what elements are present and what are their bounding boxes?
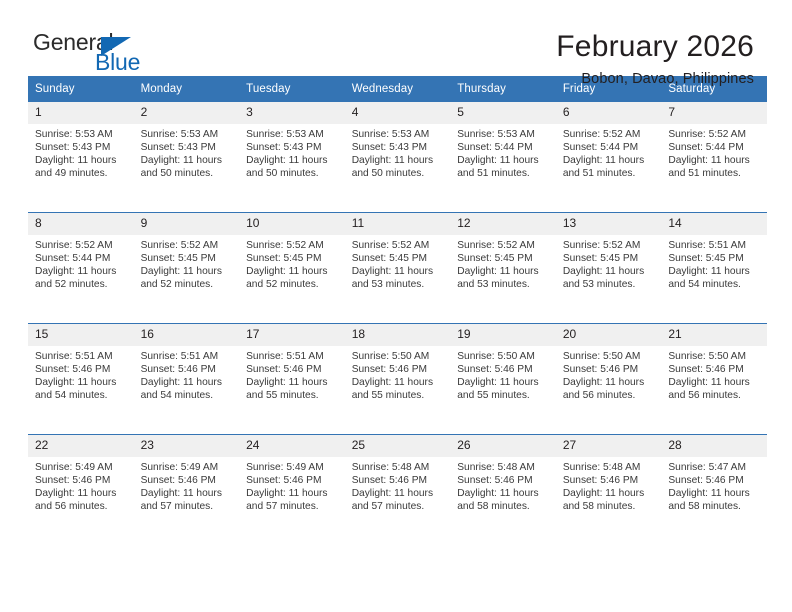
daylight-text: Daylight: 11 hours and 53 minutes. (563, 265, 656, 291)
sunset-text: Sunset: 5:46 PM (35, 474, 128, 487)
daylight-text: Daylight: 11 hours and 50 minutes. (141, 154, 234, 180)
sunrise-text: Sunrise: 5:51 AM (246, 350, 339, 363)
day-details: Sunrise: 5:53 AMSunset: 5:43 PMDaylight:… (345, 124, 451, 180)
sunrise-text: Sunrise: 5:52 AM (35, 239, 128, 252)
sunrise-text: Sunrise: 5:52 AM (246, 239, 339, 252)
day-number: 2 (134, 102, 240, 124)
sunset-text: Sunset: 5:44 PM (35, 252, 128, 265)
day-cell[interactable]: 23Sunrise: 5:49 AMSunset: 5:46 PMDayligh… (134, 435, 240, 546)
sunrise-text: Sunrise: 5:48 AM (563, 461, 656, 474)
sunset-text: Sunset: 5:46 PM (352, 474, 445, 487)
sunrise-text: Sunrise: 5:51 AM (668, 239, 761, 252)
sunrise-text: Sunrise: 5:50 AM (668, 350, 761, 363)
day-number: 26 (450, 435, 556, 457)
day-details: Sunrise: 5:51 AMSunset: 5:46 PMDaylight:… (28, 346, 134, 402)
daylight-text: Daylight: 11 hours and 55 minutes. (246, 376, 339, 402)
day-cell[interactable]: 20Sunrise: 5:50 AMSunset: 5:46 PMDayligh… (556, 324, 662, 435)
day-number: 8 (28, 213, 134, 235)
sunset-text: Sunset: 5:45 PM (457, 252, 550, 265)
calendar-week-row: 15Sunrise: 5:51 AMSunset: 5:46 PMDayligh… (28, 324, 767, 435)
day-number: 7 (661, 102, 767, 124)
day-number: 3 (239, 102, 345, 124)
day-details: Sunrise: 5:50 AMSunset: 5:46 PMDaylight:… (345, 346, 451, 402)
day-cell[interactable]: 24Sunrise: 5:49 AMSunset: 5:46 PMDayligh… (239, 435, 345, 546)
day-cell[interactable]: 5Sunrise: 5:53 AMSunset: 5:44 PMDaylight… (450, 102, 556, 213)
calendar-table: Sunday Monday Tuesday Wednesday Thursday… (28, 76, 767, 545)
day-cell[interactable]: 25Sunrise: 5:48 AMSunset: 5:46 PMDayligh… (345, 435, 451, 546)
day-details: Sunrise: 5:52 AMSunset: 5:45 PMDaylight:… (345, 235, 451, 291)
sunrise-text: Sunrise: 5:51 AM (35, 350, 128, 363)
day-details: Sunrise: 5:50 AMSunset: 5:46 PMDaylight:… (556, 346, 662, 402)
calendar-week-row: 22Sunrise: 5:49 AMSunset: 5:46 PMDayligh… (28, 435, 767, 546)
sunset-text: Sunset: 5:44 PM (563, 141, 656, 154)
page-title: February 2026 (556, 30, 754, 64)
sunrise-text: Sunrise: 5:52 AM (563, 239, 656, 252)
sunset-text: Sunset: 5:43 PM (141, 141, 234, 154)
day-number: 18 (345, 324, 451, 346)
daylight-text: Daylight: 11 hours and 55 minutes. (457, 376, 550, 402)
calendar-page: General Blue February 2026 Bobon, Davao,… (0, 0, 792, 612)
day-details: Sunrise: 5:47 AMSunset: 5:46 PMDaylight:… (661, 457, 767, 513)
day-cell[interactable]: 27Sunrise: 5:48 AMSunset: 5:46 PMDayligh… (556, 435, 662, 546)
day-details: Sunrise: 5:49 AMSunset: 5:46 PMDaylight:… (239, 457, 345, 513)
day-cell[interactable]: 9Sunrise: 5:52 AMSunset: 5:45 PMDaylight… (134, 213, 240, 324)
sunrise-text: Sunrise: 5:52 AM (141, 239, 234, 252)
daylight-text: Daylight: 11 hours and 55 minutes. (352, 376, 445, 402)
sunrise-text: Sunrise: 5:53 AM (457, 128, 550, 141)
day-details: Sunrise: 5:53 AMSunset: 5:43 PMDaylight:… (134, 124, 240, 180)
day-cell[interactable]: 1Sunrise: 5:53 AMSunset: 5:43 PMDaylight… (28, 102, 134, 213)
day-cell[interactable]: 2Sunrise: 5:53 AMSunset: 5:43 PMDaylight… (134, 102, 240, 213)
sunrise-text: Sunrise: 5:49 AM (246, 461, 339, 474)
daylight-text: Daylight: 11 hours and 58 minutes. (668, 487, 761, 513)
weekday-header-thursday: Thursday (450, 76, 556, 102)
day-number: 15 (28, 324, 134, 346)
day-number: 28 (661, 435, 767, 457)
day-cell[interactable]: 19Sunrise: 5:50 AMSunset: 5:46 PMDayligh… (450, 324, 556, 435)
day-cell[interactable]: 7Sunrise: 5:52 AMSunset: 5:44 PMDaylight… (661, 102, 767, 213)
calendar-week-row: 1Sunrise: 5:53 AMSunset: 5:43 PMDaylight… (28, 102, 767, 213)
sunrise-text: Sunrise: 5:50 AM (352, 350, 445, 363)
day-details: Sunrise: 5:51 AMSunset: 5:46 PMDaylight:… (134, 346, 240, 402)
sunset-text: Sunset: 5:46 PM (246, 363, 339, 376)
sunrise-text: Sunrise: 5:48 AM (457, 461, 550, 474)
daylight-text: Daylight: 11 hours and 54 minutes. (668, 265, 761, 291)
day-details: Sunrise: 5:53 AMSunset: 5:44 PMDaylight:… (450, 124, 556, 180)
sunset-text: Sunset: 5:45 PM (668, 252, 761, 265)
day-cell[interactable]: 8Sunrise: 5:52 AMSunset: 5:44 PMDaylight… (28, 213, 134, 324)
day-number: 5 (450, 102, 556, 124)
sunset-text: Sunset: 5:46 PM (141, 474, 234, 487)
day-details: Sunrise: 5:53 AMSunset: 5:43 PMDaylight:… (239, 124, 345, 180)
day-cell[interactable]: 17Sunrise: 5:51 AMSunset: 5:46 PMDayligh… (239, 324, 345, 435)
sunset-text: Sunset: 5:44 PM (457, 141, 550, 154)
day-cell[interactable]: 21Sunrise: 5:50 AMSunset: 5:46 PMDayligh… (661, 324, 767, 435)
sunrise-text: Sunrise: 5:48 AM (352, 461, 445, 474)
daylight-text: Daylight: 11 hours and 54 minutes. (141, 376, 234, 402)
day-details: Sunrise: 5:53 AMSunset: 5:43 PMDaylight:… (28, 124, 134, 180)
sunrise-text: Sunrise: 5:52 AM (352, 239, 445, 252)
daylight-text: Daylight: 11 hours and 52 minutes. (35, 265, 128, 291)
sunrise-text: Sunrise: 5:52 AM (668, 128, 761, 141)
sunset-text: Sunset: 5:46 PM (457, 363, 550, 376)
day-number: 24 (239, 435, 345, 457)
day-number: 23 (134, 435, 240, 457)
sunset-text: Sunset: 5:45 PM (246, 252, 339, 265)
sunrise-text: Sunrise: 5:53 AM (246, 128, 339, 141)
day-details: Sunrise: 5:50 AMSunset: 5:46 PMDaylight:… (450, 346, 556, 402)
daylight-text: Daylight: 11 hours and 51 minutes. (668, 154, 761, 180)
day-number: 16 (134, 324, 240, 346)
day-details: Sunrise: 5:52 AMSunset: 5:45 PMDaylight:… (556, 235, 662, 291)
day-number: 1 (28, 102, 134, 124)
sunrise-text: Sunrise: 5:49 AM (35, 461, 128, 474)
sunrise-text: Sunrise: 5:53 AM (352, 128, 445, 141)
daylight-text: Daylight: 11 hours and 52 minutes. (246, 265, 339, 291)
sunrise-text: Sunrise: 5:53 AM (35, 128, 128, 141)
sunset-text: Sunset: 5:45 PM (352, 252, 445, 265)
day-cell[interactable]: 26Sunrise: 5:48 AMSunset: 5:46 PMDayligh… (450, 435, 556, 546)
weekday-header-monday: Monday (134, 76, 240, 102)
day-number: 14 (661, 213, 767, 235)
sunset-text: Sunset: 5:46 PM (141, 363, 234, 376)
day-cell[interactable]: 16Sunrise: 5:51 AMSunset: 5:46 PMDayligh… (134, 324, 240, 435)
daylight-text: Daylight: 11 hours and 51 minutes. (457, 154, 550, 180)
sunrise-text: Sunrise: 5:49 AM (141, 461, 234, 474)
day-cell[interactable]: 28Sunrise: 5:47 AMSunset: 5:46 PMDayligh… (661, 435, 767, 546)
day-details: Sunrise: 5:52 AMSunset: 5:44 PMDaylight:… (28, 235, 134, 291)
calendar-body: 1Sunrise: 5:53 AMSunset: 5:43 PMDaylight… (28, 102, 767, 546)
sunset-text: Sunset: 5:46 PM (668, 474, 761, 487)
sunset-text: Sunset: 5:45 PM (563, 252, 656, 265)
sunrise-text: Sunrise: 5:50 AM (457, 350, 550, 363)
day-number: 4 (345, 102, 451, 124)
daylight-text: Daylight: 11 hours and 52 minutes. (141, 265, 234, 291)
day-cell[interactable]: 18Sunrise: 5:50 AMSunset: 5:46 PMDayligh… (345, 324, 451, 435)
calendar-wrapper: Sunday Monday Tuesday Wednesday Thursday… (0, 76, 792, 545)
sunset-text: Sunset: 5:43 PM (352, 141, 445, 154)
sunrise-text: Sunrise: 5:50 AM (563, 350, 656, 363)
day-cell[interactable]: 10Sunrise: 5:52 AMSunset: 5:45 PMDayligh… (239, 213, 345, 324)
day-details: Sunrise: 5:49 AMSunset: 5:46 PMDaylight:… (28, 457, 134, 513)
day-cell[interactable]: 12Sunrise: 5:52 AMSunset: 5:45 PMDayligh… (450, 213, 556, 324)
daylight-text: Daylight: 11 hours and 53 minutes. (457, 265, 550, 291)
daylight-text: Daylight: 11 hours and 51 minutes. (563, 154, 656, 180)
daylight-text: Daylight: 11 hours and 58 minutes. (563, 487, 656, 513)
day-details: Sunrise: 5:48 AMSunset: 5:46 PMDaylight:… (450, 457, 556, 513)
day-details: Sunrise: 5:52 AMSunset: 5:44 PMDaylight:… (556, 124, 662, 180)
weekday-header-wednesday: Wednesday (345, 76, 451, 102)
daylight-text: Daylight: 11 hours and 56 minutes. (563, 376, 656, 402)
weekday-header-sunday: Sunday (28, 76, 134, 102)
day-cell[interactable]: 3Sunrise: 5:53 AMSunset: 5:43 PMDaylight… (239, 102, 345, 213)
day-details: Sunrise: 5:51 AMSunset: 5:46 PMDaylight:… (239, 346, 345, 402)
sunset-text: Sunset: 5:46 PM (563, 474, 656, 487)
sunrise-text: Sunrise: 5:53 AM (141, 128, 234, 141)
day-number: 22 (28, 435, 134, 457)
day-number: 6 (556, 102, 662, 124)
day-details: Sunrise: 5:52 AMSunset: 5:45 PMDaylight:… (134, 235, 240, 291)
calendar-week-row: 8Sunrise: 5:52 AMSunset: 5:44 PMDaylight… (28, 213, 767, 324)
day-details: Sunrise: 5:51 AMSunset: 5:45 PMDaylight:… (661, 235, 767, 291)
day-number: 10 (239, 213, 345, 235)
sunrise-text: Sunrise: 5:51 AM (141, 350, 234, 363)
title-block: February 2026 Bobon, Davao, Philippines (556, 30, 754, 87)
general-blue-logo[interactable]: General Blue (33, 30, 158, 78)
sunset-text: Sunset: 5:46 PM (668, 363, 761, 376)
sunset-text: Sunset: 5:43 PM (246, 141, 339, 154)
day-cell[interactable]: 11Sunrise: 5:52 AMSunset: 5:45 PMDayligh… (345, 213, 451, 324)
day-details: Sunrise: 5:49 AMSunset: 5:46 PMDaylight:… (134, 457, 240, 513)
daylight-text: Daylight: 11 hours and 53 minutes. (352, 265, 445, 291)
daylight-text: Daylight: 11 hours and 57 minutes. (352, 487, 445, 513)
day-details: Sunrise: 5:52 AMSunset: 5:45 PMDaylight:… (239, 235, 345, 291)
day-number: 9 (134, 213, 240, 235)
daylight-text: Daylight: 11 hours and 56 minutes. (35, 487, 128, 513)
day-number: 17 (239, 324, 345, 346)
day-number: 25 (345, 435, 451, 457)
day-number: 27 (556, 435, 662, 457)
sunset-text: Sunset: 5:46 PM (457, 474, 550, 487)
weekday-header-tuesday: Tuesday (239, 76, 345, 102)
sunset-text: Sunset: 5:46 PM (352, 363, 445, 376)
day-cell[interactable]: 6Sunrise: 5:52 AMSunset: 5:44 PMDaylight… (556, 102, 662, 213)
sunset-text: Sunset: 5:46 PM (563, 363, 656, 376)
sunrise-text: Sunrise: 5:52 AM (563, 128, 656, 141)
daylight-text: Daylight: 11 hours and 57 minutes. (141, 487, 234, 513)
day-details: Sunrise: 5:52 AMSunset: 5:45 PMDaylight:… (450, 235, 556, 291)
day-number: 20 (556, 324, 662, 346)
day-details: Sunrise: 5:50 AMSunset: 5:46 PMDaylight:… (661, 346, 767, 402)
day-number: 21 (661, 324, 767, 346)
day-cell[interactable]: 13Sunrise: 5:52 AMSunset: 5:45 PMDayligh… (556, 213, 662, 324)
daylight-text: Daylight: 11 hours and 57 minutes. (246, 487, 339, 513)
day-number: 12 (450, 213, 556, 235)
sunrise-text: Sunrise: 5:52 AM (457, 239, 550, 252)
sunset-text: Sunset: 5:46 PM (246, 474, 339, 487)
daylight-text: Daylight: 11 hours and 50 minutes. (246, 154, 339, 180)
logo-text-blue: Blue (95, 51, 140, 74)
day-cell[interactable]: 14Sunrise: 5:51 AMSunset: 5:45 PMDayligh… (661, 213, 767, 324)
sunrise-text: Sunrise: 5:47 AM (668, 461, 761, 474)
day-cell[interactable]: 15Sunrise: 5:51 AMSunset: 5:46 PMDayligh… (28, 324, 134, 435)
sunset-text: Sunset: 5:45 PM (141, 252, 234, 265)
day-details: Sunrise: 5:48 AMSunset: 5:46 PMDaylight:… (345, 457, 451, 513)
daylight-text: Daylight: 11 hours and 49 minutes. (35, 154, 128, 180)
day-details: Sunrise: 5:52 AMSunset: 5:44 PMDaylight:… (661, 124, 767, 180)
daylight-text: Daylight: 11 hours and 56 minutes. (668, 376, 761, 402)
day-cell[interactable]: 4Sunrise: 5:53 AMSunset: 5:43 PMDaylight… (345, 102, 451, 213)
day-cell[interactable]: 22Sunrise: 5:49 AMSunset: 5:46 PMDayligh… (28, 435, 134, 546)
daylight-text: Daylight: 11 hours and 58 minutes. (457, 487, 550, 513)
day-number: 13 (556, 213, 662, 235)
sunset-text: Sunset: 5:46 PM (35, 363, 128, 376)
sunset-text: Sunset: 5:43 PM (35, 141, 128, 154)
day-details: Sunrise: 5:48 AMSunset: 5:46 PMDaylight:… (556, 457, 662, 513)
page-header: General Blue February 2026 Bobon, Davao,… (0, 0, 792, 76)
daylight-text: Daylight: 11 hours and 54 minutes. (35, 376, 128, 402)
sunset-text: Sunset: 5:44 PM (668, 141, 761, 154)
day-number: 19 (450, 324, 556, 346)
day-number: 11 (345, 213, 451, 235)
daylight-text: Daylight: 11 hours and 50 minutes. (352, 154, 445, 180)
